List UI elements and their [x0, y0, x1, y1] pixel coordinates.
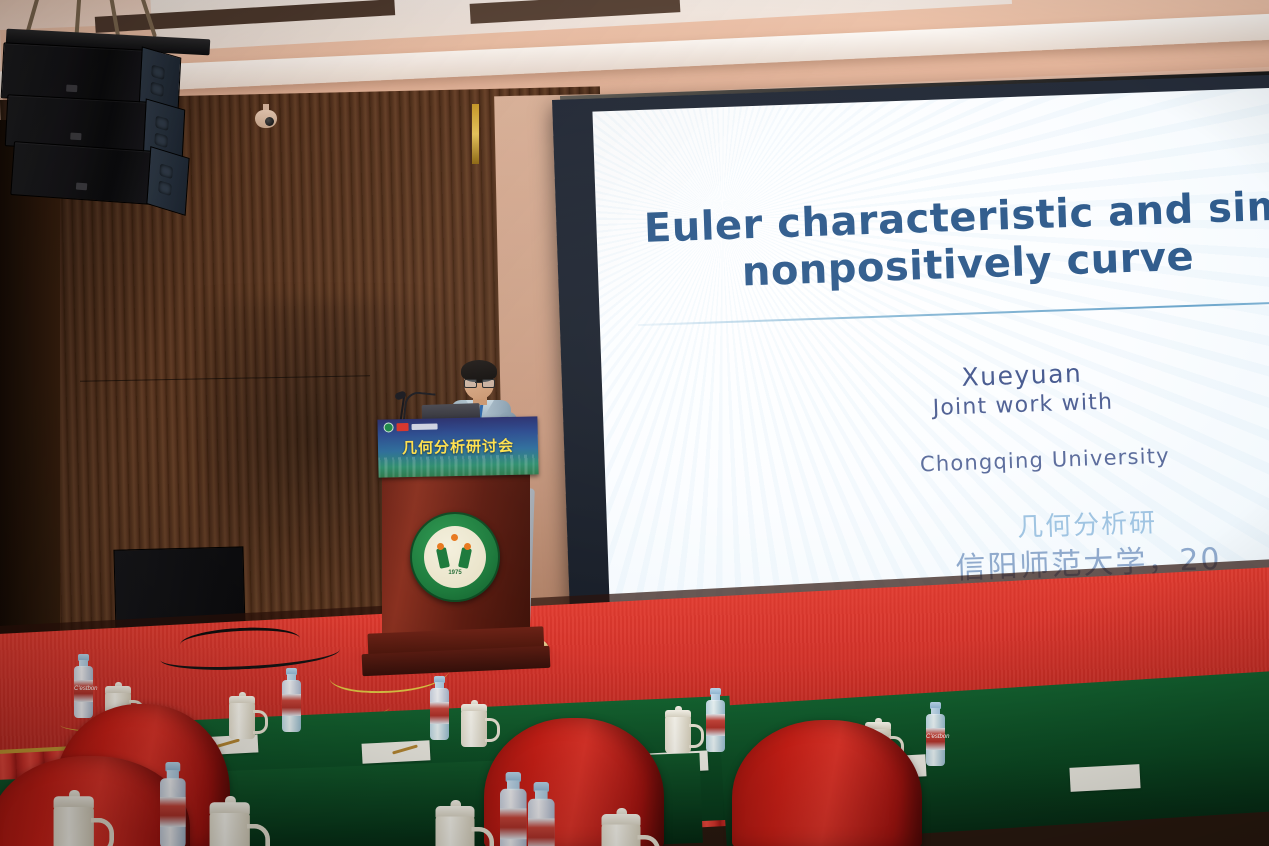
bottle-label	[528, 818, 555, 846]
banner-logo-group	[383, 421, 437, 432]
emblem-dot-left	[437, 543, 444, 550]
speaker-port-6	[158, 180, 172, 196]
bottle-label	[282, 694, 301, 716]
mug-body	[229, 703, 255, 739]
rig-cable-3	[108, 0, 120, 36]
security-camera-lens	[265, 117, 274, 126]
line-array-side-3	[146, 146, 189, 216]
line-array-rig	[0, 0, 260, 230]
podium-banner: 几何分析研讨会	[377, 416, 538, 477]
emblem-inner-disc: 1975	[424, 526, 486, 588]
banner-logo-text	[412, 423, 438, 430]
mug-body	[436, 817, 475, 846]
podium-banner-title: 几何分析研讨会	[378, 434, 538, 458]
mug-body	[54, 807, 94, 846]
speaker-brand-logo	[66, 85, 77, 93]
emblem-dot-right	[464, 543, 471, 550]
mug-body	[210, 813, 250, 846]
emblem-figure-right	[458, 547, 472, 569]
anniversary-logo-icon	[396, 423, 408, 431]
bottle-label	[500, 808, 527, 839]
bottle-label	[160, 797, 186, 827]
mug-body	[665, 717, 691, 753]
speaker-port-1	[151, 64, 164, 80]
glasses-icon	[464, 379, 494, 386]
conference-photo: Euler characteristic and sim nonpositive…	[0, 0, 1269, 846]
speaker-port-3	[155, 115, 168, 131]
wall-gold-trim	[472, 104, 479, 164]
glasses-lens-right	[482, 379, 495, 388]
projection-screen: Euler characteristic and sim nonpositive…	[592, 87, 1269, 623]
speaker-brand-logo	[76, 183, 87, 191]
speaker-port-5	[159, 163, 173, 179]
line-array-cabinet-3	[10, 141, 155, 205]
university-emblem: 1975	[410, 512, 500, 602]
emblem-dot-center	[451, 534, 458, 541]
mug-body	[461, 711, 487, 747]
rig-cable-4	[139, 0, 157, 37]
bottle-brand-text: C'estbon	[74, 686, 93, 692]
university-seal-icon	[383, 422, 393, 432]
bottle-brand-text: C'estbon	[926, 734, 945, 740]
speaker-brand-logo	[70, 133, 81, 141]
speaker-port-2	[150, 81, 163, 97]
speaker-port-4	[154, 132, 167, 148]
notepad-sheet	[1069, 764, 1140, 792]
bottle-label	[430, 702, 449, 724]
projection-screen-frame: Euler characteristic and sim nonpositive…	[552, 74, 1269, 639]
glasses-bridge	[475, 382, 482, 383]
emblem-year: 1975	[424, 570, 486, 576]
emblem-figure-left	[436, 547, 450, 569]
bottle-label	[706, 714, 725, 736]
glasses-lens-left	[464, 379, 477, 388]
mug-body	[602, 825, 641, 846]
